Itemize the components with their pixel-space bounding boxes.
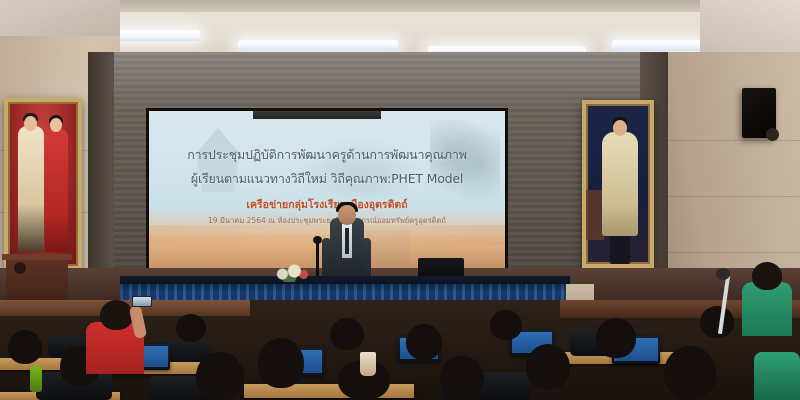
right-wall-seam-3 xyxy=(665,252,800,253)
right-wall-seam-1 xyxy=(665,140,800,141)
coffee-cup xyxy=(360,352,376,376)
portrait-figure-left xyxy=(18,126,44,252)
audience-head xyxy=(196,352,244,400)
ceiling-light-2 xyxy=(238,40,398,51)
ceiling-left-corner xyxy=(0,0,120,40)
slide-title-line-2: ผู้เรียนตามแนวทางวิถีใหม่ วิถีคุณภาพ:PHE… xyxy=(149,169,505,189)
staff-green-head xyxy=(752,262,782,290)
altar-top-shelf xyxy=(2,254,72,260)
staff-green-body xyxy=(742,282,792,336)
portrait-figure-right-head xyxy=(50,118,62,132)
wood-panel-sheen xyxy=(88,52,668,112)
microphone-stand xyxy=(316,240,319,280)
water-bottle xyxy=(30,366,42,392)
flower-arrangement xyxy=(268,262,316,282)
royal-couple-portrait xyxy=(4,98,82,270)
audience-head xyxy=(258,338,304,388)
portrait-figure-right xyxy=(45,128,68,252)
audience-head xyxy=(8,330,42,364)
audience-head xyxy=(406,324,442,360)
audience-head xyxy=(176,314,206,342)
portrait-figure-left-head xyxy=(24,116,37,131)
screenshot-root: การประชุมปฏิบัติการพัฒนาครูด้านการพัฒนาค… xyxy=(0,0,800,400)
audience-head xyxy=(526,344,570,390)
presenter-head xyxy=(338,205,356,225)
altar-vessel xyxy=(14,262,26,274)
audience-head xyxy=(440,356,484,400)
smartphone-icon[interactable] xyxy=(132,296,152,307)
audience-head xyxy=(664,346,716,400)
audience-photographer-head xyxy=(100,300,133,330)
right-wall-seam-2 xyxy=(665,196,800,197)
loudspeaker-mount xyxy=(766,128,779,141)
audience-head xyxy=(596,318,636,358)
staff-green-foreground xyxy=(754,352,800,400)
slide-footer-date-venue: 19 มีนาคม 2564 ณ ห้องประชุมพระยาพิชัย สห… xyxy=(149,215,505,227)
wood-panel-left-edge xyxy=(88,52,114,298)
presenter-tie xyxy=(345,228,349,254)
portrait-figure-head xyxy=(613,120,627,136)
royal-portrait xyxy=(582,100,654,268)
slide-title-line-1: การประชุมปฏิบัติการพัฒนาครูด้านการพัฒนาค… xyxy=(149,145,505,165)
microphone-boom-head xyxy=(716,268,730,280)
portrait-figure-body xyxy=(602,132,638,236)
audience-head xyxy=(490,310,522,340)
slide-subtitle-network: เครือข่ายกลุ่มโรงเรียนเมืองอุตรดิตถ์ xyxy=(149,196,505,213)
audience-head xyxy=(330,318,364,350)
microphone-icon xyxy=(313,236,322,244)
presentation-toolbar[interactable] xyxy=(253,111,381,119)
